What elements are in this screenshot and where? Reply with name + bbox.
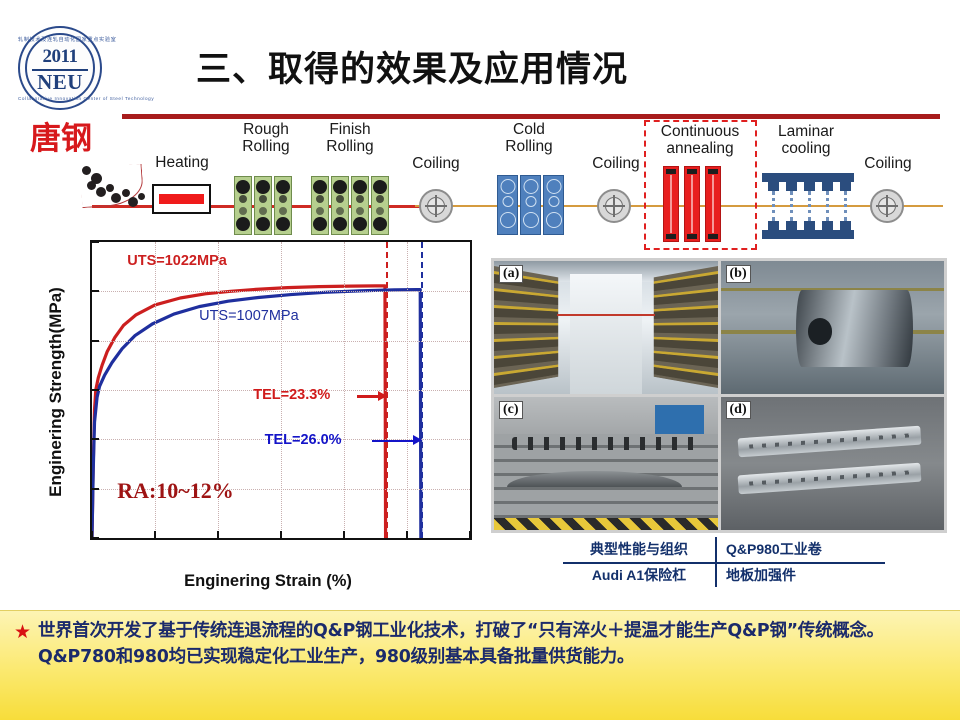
chart-x-tickmark: [406, 531, 408, 538]
photo-annealing-line-hall: (a): [494, 261, 718, 394]
chart-x-tickmark: [343, 531, 345, 538]
annealing-tower: [684, 166, 700, 242]
label-finish-rolling-2: Rolling: [310, 139, 390, 155]
photo-tag-c: (c): [499, 401, 523, 419]
annealing-tower: [705, 166, 721, 242]
star-icon: ★: [14, 623, 31, 642]
stress-strain-chart: Enginering Strength(MPa) Enginering Stra…: [8, 232, 488, 604]
logo-arc-top-text: 轧制技术及连轧自动化国家重点实验室: [18, 36, 102, 43]
chart-y-axis-label: Enginering Strength(MPa): [46, 252, 66, 532]
chart-tel-arrow-head: [413, 435, 422, 445]
chart-gridline-h: [92, 291, 470, 292]
chart-x-tickmark: [280, 531, 282, 538]
photo-tag-d: (d): [726, 401, 751, 419]
chart-y-tickmark: [92, 389, 99, 391]
annotation-uts-blue: UTS=1007MPa: [199, 308, 299, 324]
chart-fracture-marker: [421, 242, 423, 538]
mill-stand: [351, 176, 369, 235]
label-cold-rolling-2: Rolling: [487, 139, 571, 155]
coiler-icon-3: [870, 189, 904, 223]
chart-y-tickmark: [92, 290, 99, 292]
caption-cell-r0c1: Q&P980工业卷: [715, 539, 885, 559]
label-coiling-2: Coiling: [578, 156, 654, 172]
cold-rolling-stands: [497, 175, 564, 235]
slide-root: 轧制技术及连轧自动化国家重点实验室 2011 NEU Collaborative…: [0, 0, 960, 720]
logo-arc-bottom-text: Collaborative Innovation Center of Steel…: [18, 96, 102, 101]
caption-cell-r1c1: 地板加强件: [715, 565, 885, 585]
page-title: 三、取得的效果及应用情况: [196, 41, 628, 92]
coiler-icon-2: [597, 189, 631, 223]
mill-stand: [274, 176, 292, 235]
table-row: Audi A1保险杠 地板加强件: [563, 562, 885, 588]
label-annealing-2: annealing: [645, 141, 755, 157]
chart-y-tickmark: [92, 438, 99, 440]
chart-gridline-v: [470, 242, 471, 538]
mill-stand: [311, 176, 329, 235]
label-coiling-3: Coiling: [850, 156, 926, 172]
label-cold-rolling-1: Cold: [487, 122, 571, 138]
cold-mill-stand: [497, 175, 518, 235]
chart-y-tickmark: [92, 537, 99, 539]
chart-x-tickmark: [469, 531, 471, 538]
chart-y-tickmark: [92, 241, 99, 243]
caption-table: 典型性能与组织 Q&P980工业卷 Audi A1保险杠 地板加强件: [563, 536, 885, 588]
annotation-tel-red: TEL=23.3%: [253, 387, 330, 403]
bottom-callout: ★ 世界首次开发了基于传统连退流程的Q&P钢工业化技术，打破了“只有淬火＋提温才…: [0, 610, 960, 720]
process-flow-diagram: 唐钢 Heating Rough Rolling Finish: [0, 118, 960, 246]
label-annealing-1: Continuous: [645, 124, 755, 140]
coiler-icon-1: [419, 189, 453, 223]
cold-mill-stand: [543, 175, 564, 235]
finish-rolling-stands: [311, 176, 389, 235]
neu-logo: 轧制技术及连轧自动化国家重点实验室 2011 NEU Collaborative…: [18, 26, 102, 110]
label-laminar-2: cooling: [758, 141, 854, 157]
rough-rolling-stands: [234, 176, 292, 235]
label-finish-rolling-1: Finish: [310, 122, 390, 138]
logo-acronym: NEU: [18, 70, 102, 95]
logo-year: 2011: [18, 46, 102, 68]
chart-y-tickmark: [92, 340, 99, 342]
laminar-cooling-icon: [762, 173, 854, 239]
mill-stand: [371, 176, 389, 235]
chart-tel-arrow-head: [378, 391, 387, 401]
annealing-tower: [663, 166, 679, 242]
chart-gridline-h: [92, 341, 470, 342]
mill-name-label: 唐钢: [30, 124, 92, 154]
label-rough-rolling-1: Rough: [226, 122, 306, 138]
cold-mill-stand: [520, 175, 541, 235]
chart-x-tickmark: [154, 531, 156, 538]
chart-plot-area: 0.000.050.100.150.200.250.30020040060080…: [90, 240, 472, 540]
mill-stand: [254, 176, 272, 235]
photo-tag-a: (a): [499, 265, 523, 283]
label-heating: Heating: [143, 155, 221, 171]
heating-furnace-icon: [152, 184, 211, 214]
callout-text: 世界首次开发了基于传统连退流程的Q&P钢工业化技术，打破了“只有淬火＋提温才能生…: [38, 618, 948, 671]
label-rough-rolling-2: Rolling: [226, 139, 306, 155]
caption-cell-r0c0: 典型性能与组织: [563, 539, 715, 559]
chart-tel-arrow-line: [372, 440, 414, 442]
table-row: 典型性能与组织 Q&P980工业卷: [563, 536, 885, 562]
annotation-uts-red: UTS=1022MPa: [127, 253, 227, 269]
mill-stand: [234, 176, 252, 235]
chart-x-axis-label: Enginering Strain (%): [68, 572, 468, 591]
annotation-tel-blue: TEL=26.0%: [265, 432, 342, 448]
caption-cell-r1c0: Audi A1保险杠: [563, 565, 715, 585]
photo-grid: (a) (b) (c) (d): [491, 258, 947, 533]
label-coiling-1: Coiling: [396, 156, 476, 172]
chart-tel-arrow-line: [357, 395, 379, 397]
photo-bumper-beam: (c): [494, 397, 718, 530]
charge-material-icon: [78, 160, 148, 212]
annotation-ra: RA:10~12%: [117, 478, 234, 504]
mill-stand: [331, 176, 349, 235]
chart-y-tickmark: [92, 488, 99, 490]
annealing-towers: [663, 166, 721, 242]
label-laminar-1: Laminar: [758, 124, 854, 140]
chart-x-tickmark: [217, 531, 219, 538]
photo-floor-reinforcement-parts: (d): [721, 397, 945, 530]
photo-steel-coil: (b): [721, 261, 945, 394]
photo-tag-b: (b): [726, 265, 751, 283]
